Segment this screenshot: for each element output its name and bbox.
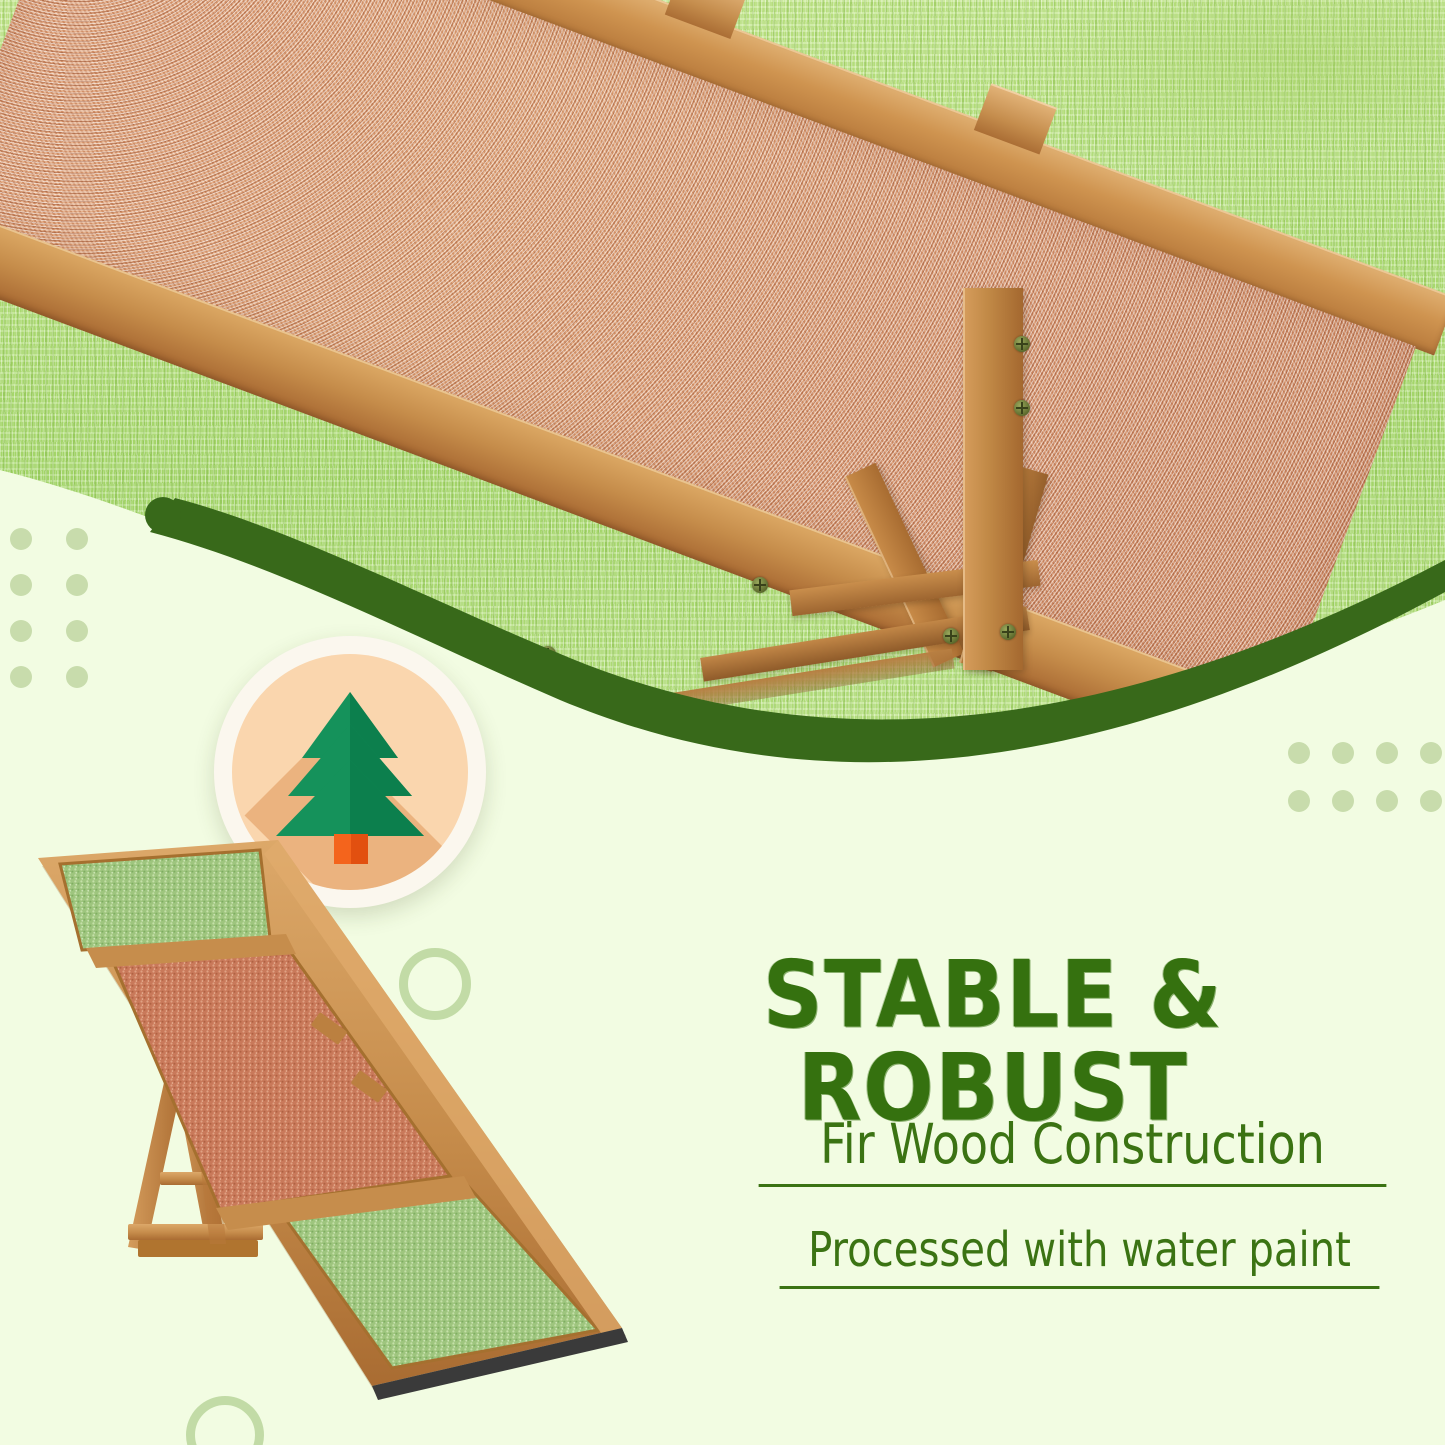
dot (1420, 790, 1442, 812)
dot (10, 574, 32, 596)
hero-product-photo (0, 0, 1445, 790)
dot (1332, 790, 1354, 812)
dot (66, 620, 88, 642)
screw-icon (1000, 624, 1016, 640)
support-frame (0, 0, 1445, 790)
dot (66, 528, 88, 550)
dot (1376, 742, 1398, 764)
dot (10, 666, 32, 688)
dot-grid-left (10, 528, 122, 712)
dot-grid-right (1288, 742, 1445, 838)
screw-icon (1014, 400, 1030, 416)
dot (1332, 742, 1354, 764)
screw-icon (752, 577, 768, 593)
screw-icon (943, 628, 959, 644)
marketing-banner: STABLE & ROBUST Fir Wood Construction Pr… (0, 0, 1445, 1445)
inset-board (38, 840, 628, 1400)
feature-line-1: Fir Wood Construction (759, 1112, 1387, 1187)
feature-line-2: Processed with water paint (780, 1222, 1380, 1289)
dot (1420, 742, 1442, 764)
dot (1376, 790, 1398, 812)
dot (10, 528, 32, 550)
dot (66, 574, 88, 596)
dot (10, 620, 32, 642)
product-inset-seesaw (20, 820, 640, 1440)
dot (1288, 790, 1310, 812)
dot (66, 666, 88, 688)
dot (1288, 742, 1310, 764)
decorative-ring (399, 948, 471, 1020)
page-title: STABLE & ROBUST (588, 948, 1398, 1134)
screw-icon (1014, 336, 1030, 352)
screw-icon (540, 646, 556, 662)
